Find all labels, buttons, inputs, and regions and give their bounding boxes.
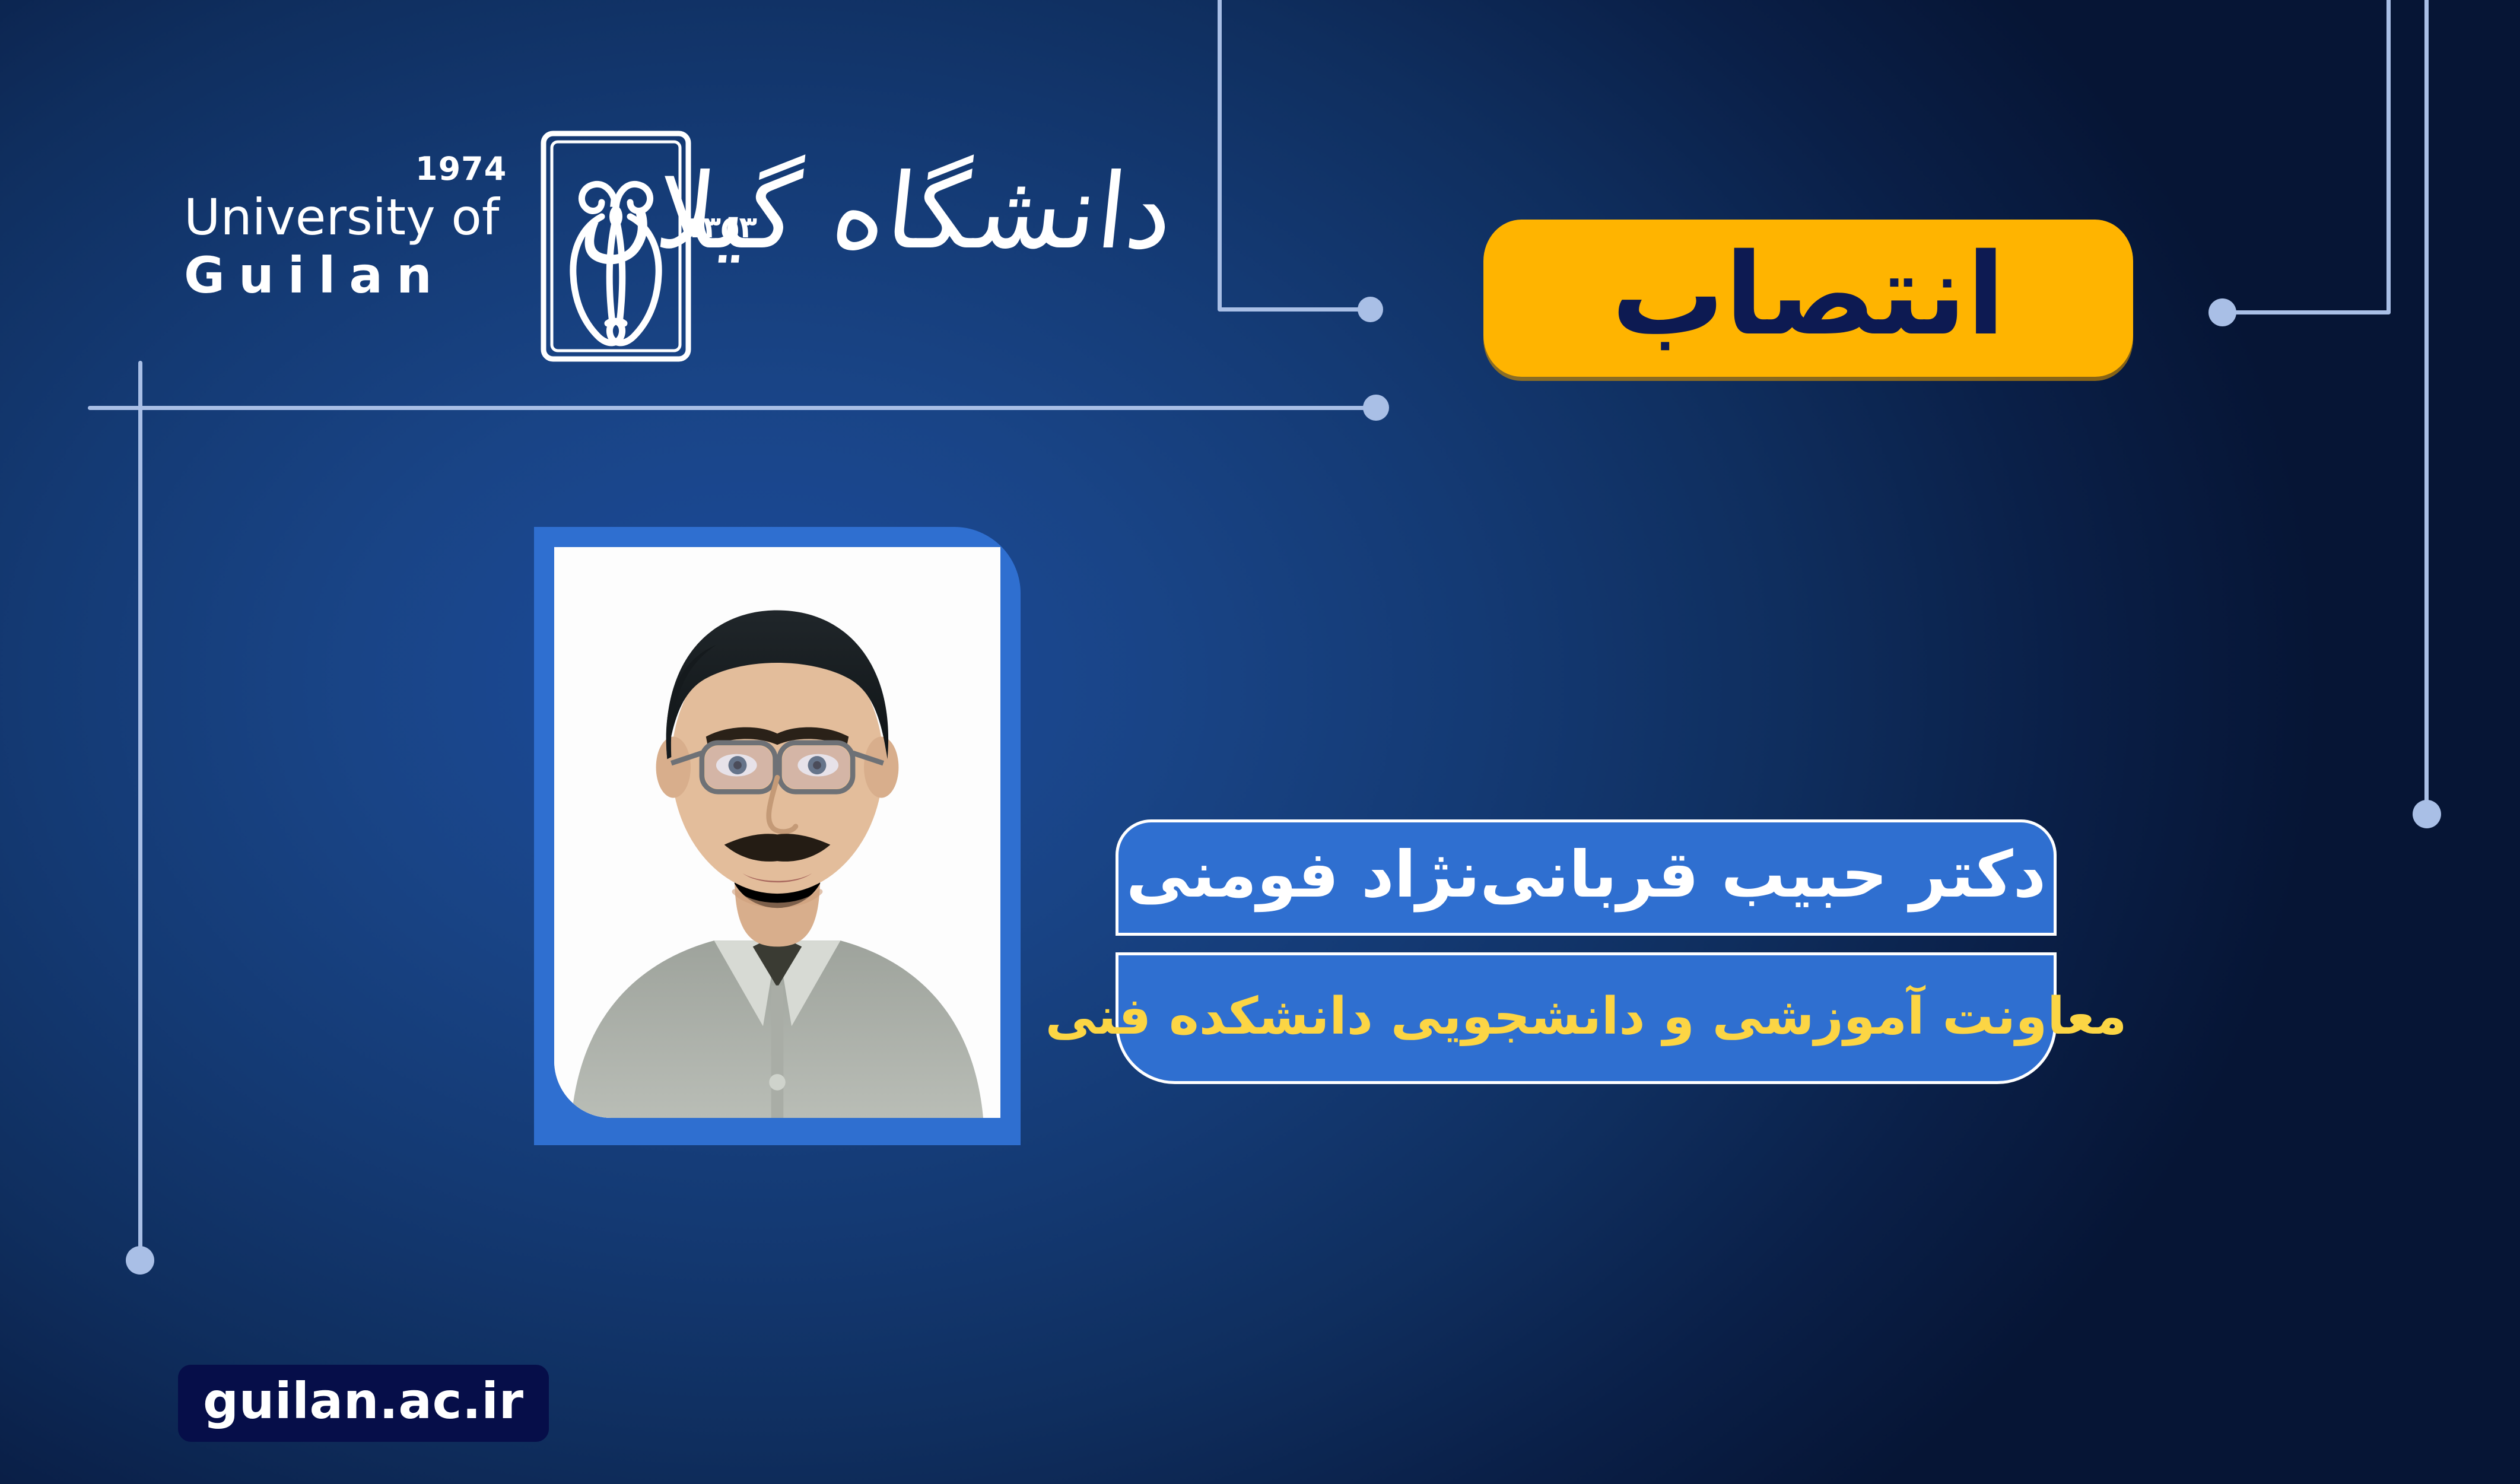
deco-line-left-vertical [138,361,142,1257]
deco-line-right-vertical-inner [2386,0,2391,314]
deco-dot-middle [1363,395,1389,421]
portrait-frame [534,527,1021,1145]
website-url-text: guilan.ac.ir [203,1376,524,1426]
appointment-badge-label: انتصاب [1612,246,2006,343]
deco-dot-left-bottom [126,1246,154,1275]
deco-dot-right-inner [2208,298,2236,326]
logo-english-line1: University of [178,192,510,242]
logo-english-block: 1974 University of Guilan [178,192,510,300]
logo-english-line2: Guilan [178,250,510,300]
person-name-banner: دکتر حبیب قربانی‌نژاد فومنی [1116,819,2057,936]
deco-dot-top [1358,297,1383,322]
deco-line-top-horizontal [1218,307,1364,312]
portrait-photo [554,547,1000,1118]
person-name-text: دکتر حبیب قربانی‌نژاد فومنی [1126,843,2046,907]
appointment-badge: انتصاب [1483,220,2133,377]
deco-line-top-vertical [1218,0,1222,311]
deco-line-right-vertical-outer [2424,0,2429,810]
deco-dot-right-outer [2413,800,2441,828]
position-title-text: معاونت آموزشی و دانشجویی دانشکده فنی [1046,991,2127,1042]
logo-persian-name: دانشگاه گیلان [573,142,1180,282]
position-title-banner: معاونت آموزشی و دانشجویی دانشکده فنی [1116,952,2057,1084]
deco-line-right-horizontal [2235,310,2390,314]
logo-persian-block: دانشگاه گیلان ۱۳۵۳ [722,148,1172,344]
deco-line-middle-horizontal [88,406,1377,410]
appointment-poster: 1974 University of Guilan دانشگاه گیلان … [0,0,2520,1484]
logo-year-persian: ۱۳۵۳ [685,210,757,244]
university-logo: 1974 University of Guilan دانشگاه گیلان … [178,128,1199,365]
logo-year-gregorian: 1974 [415,153,507,185]
website-url-badge[interactable]: guilan.ac.ir [178,1365,549,1442]
person-photo-illustration [554,547,1000,1118]
